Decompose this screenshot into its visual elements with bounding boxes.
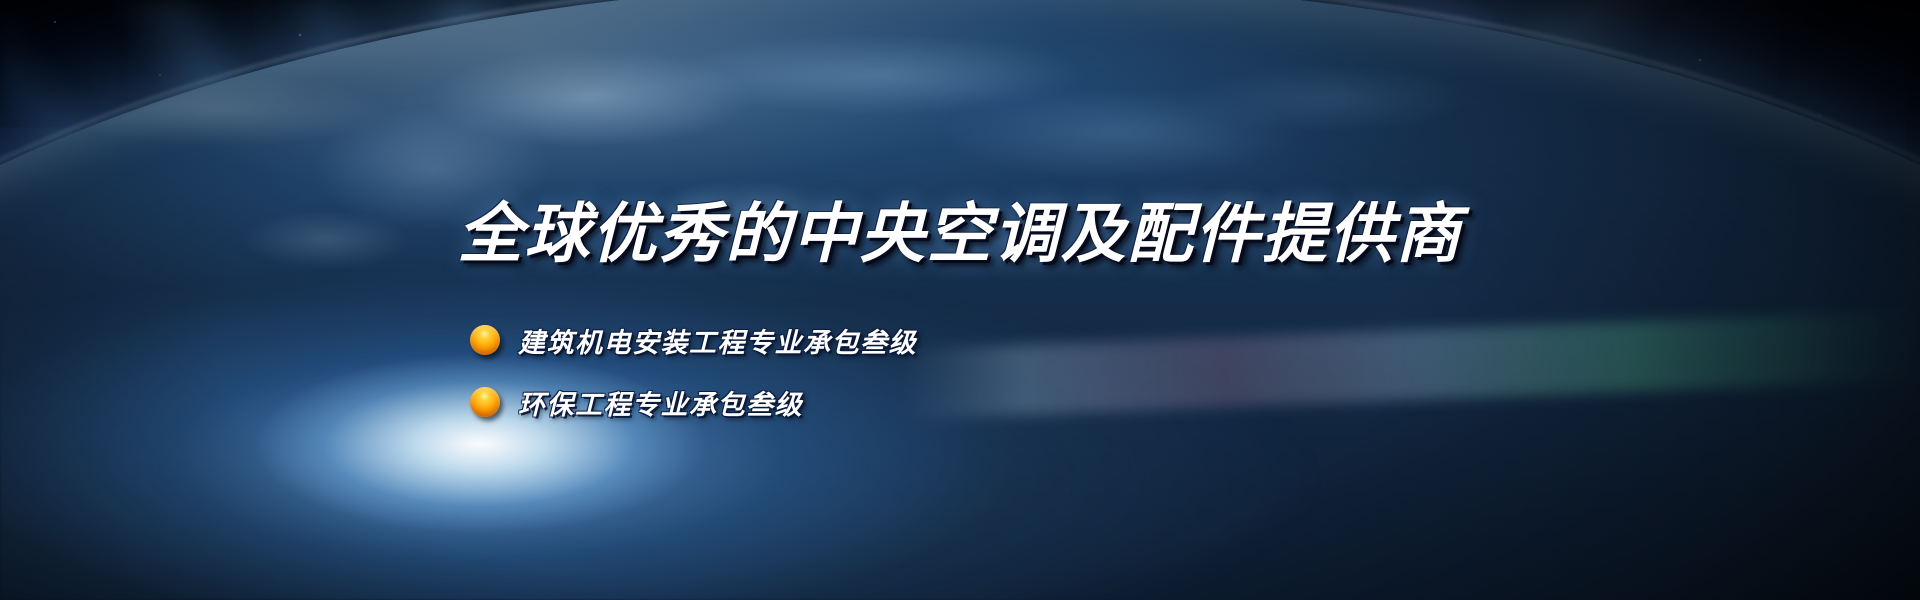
banner-headline: 全球优秀的中央空调及配件提供商 [0,196,1920,274]
orange-sphere-bullet-icon [470,387,500,417]
hero-banner: 全球优秀的中央空调及配件提供商 建筑机电安装工程专业承包叁级 环保工程专业承包叁… [0,0,1920,600]
list-item: 环保工程专业承包叁级 [470,374,917,430]
list-item: 建筑机电安装工程专业承包叁级 [470,312,917,368]
list-item-label: 建筑机电安装工程专业承包叁级 [518,321,917,360]
qualification-list: 建筑机电安装工程专业承包叁级 环保工程专业承包叁级 [470,312,917,436]
list-item-label: 环保工程专业承包叁级 [518,383,803,422]
orange-sphere-bullet-icon [470,325,500,355]
banner-content: 全球优秀的中央空调及配件提供商 建筑机电安装工程专业承包叁级 环保工程专业承包叁… [0,0,1920,600]
